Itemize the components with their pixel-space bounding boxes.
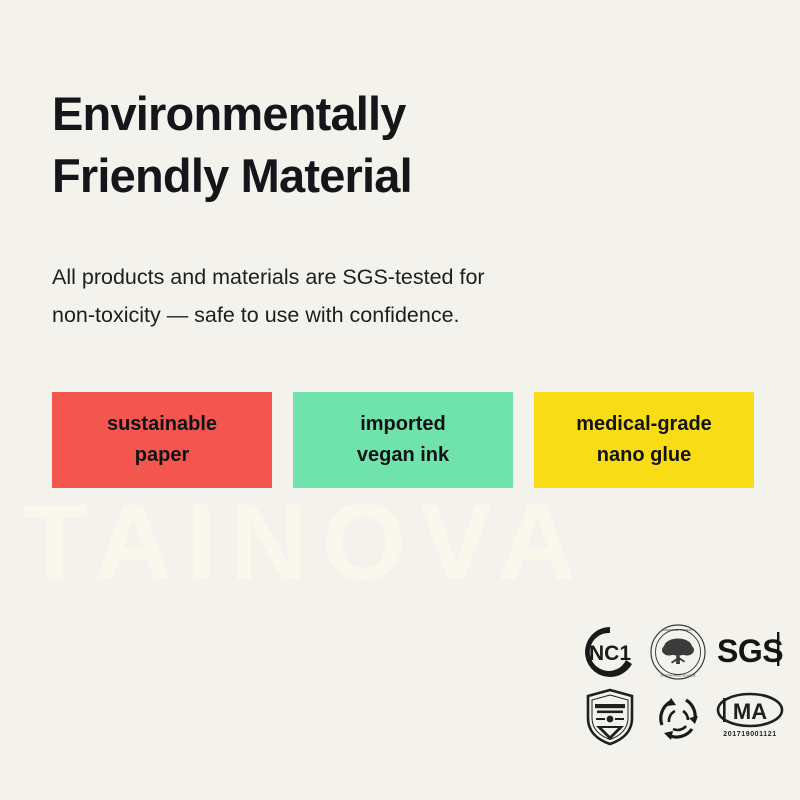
page-title-line-1: Environmentally xyxy=(52,83,672,145)
description-text: All products and materials are SGS-teste… xyxy=(52,258,672,334)
material-tag-row: sustainable paper imported vegan ink med… xyxy=(52,392,754,488)
material-tag-label-line-2: nano glue xyxy=(597,440,691,471)
material-tag-medical-grade-nano-glue: medical-grade nano glue xyxy=(534,392,754,488)
brand-watermark: TAINOVA xyxy=(22,482,792,602)
material-tag-label-line-1: imported xyxy=(360,409,446,440)
nc1-certification-badge: NC1 xyxy=(578,620,642,683)
svg-text:SGS: SGS xyxy=(717,633,783,669)
svg-text:MA: MA xyxy=(733,699,767,724)
cma-certification-badge: MA 201719001121 xyxy=(714,685,786,748)
recycling-certification-badge xyxy=(646,685,710,748)
material-tag-sustainable-paper: sustainable paper xyxy=(52,392,272,488)
poster-canvas: TAINOVA Environmentally Friendly Materia… xyxy=(0,0,800,800)
page-title: Environmentally Friendly Material xyxy=(52,83,672,207)
page-title-line-2: Friendly Material xyxy=(52,145,672,207)
description-line-2: non-toxicity — safe to use with confiden… xyxy=(52,296,672,334)
description-line-1: All products and materials are SGS-teste… xyxy=(52,258,672,296)
material-tag-imported-vegan-ink: imported vegan ink xyxy=(293,392,513,488)
svg-text:CERTIFIED FOREST: CERTIFIED FOREST xyxy=(663,628,693,632)
shield-certification-badge xyxy=(578,685,642,748)
sgs-certification-badge: SGS xyxy=(714,620,786,683)
cma-number: 201719001121 xyxy=(723,731,777,738)
material-tag-label-line-1: medical-grade xyxy=(576,409,712,440)
material-tag-label-line-2: vegan ink xyxy=(357,440,449,471)
material-tag-label-line-2: paper xyxy=(135,440,189,471)
material-tag-label-line-1: sustainable xyxy=(107,409,217,440)
forest-seal-certification-badge: CERTIFIED FOREST SUSTAINABLE SOURCE xyxy=(646,620,710,683)
certification-badge-grid: NC1 CERTIFIED FOREST SUSTAINABLE SOURCE xyxy=(578,620,786,748)
svg-text:NC1: NC1 xyxy=(589,642,631,665)
svg-text:SUSTAINABLE SOURCE: SUSTAINABLE SOURCE xyxy=(660,673,695,677)
